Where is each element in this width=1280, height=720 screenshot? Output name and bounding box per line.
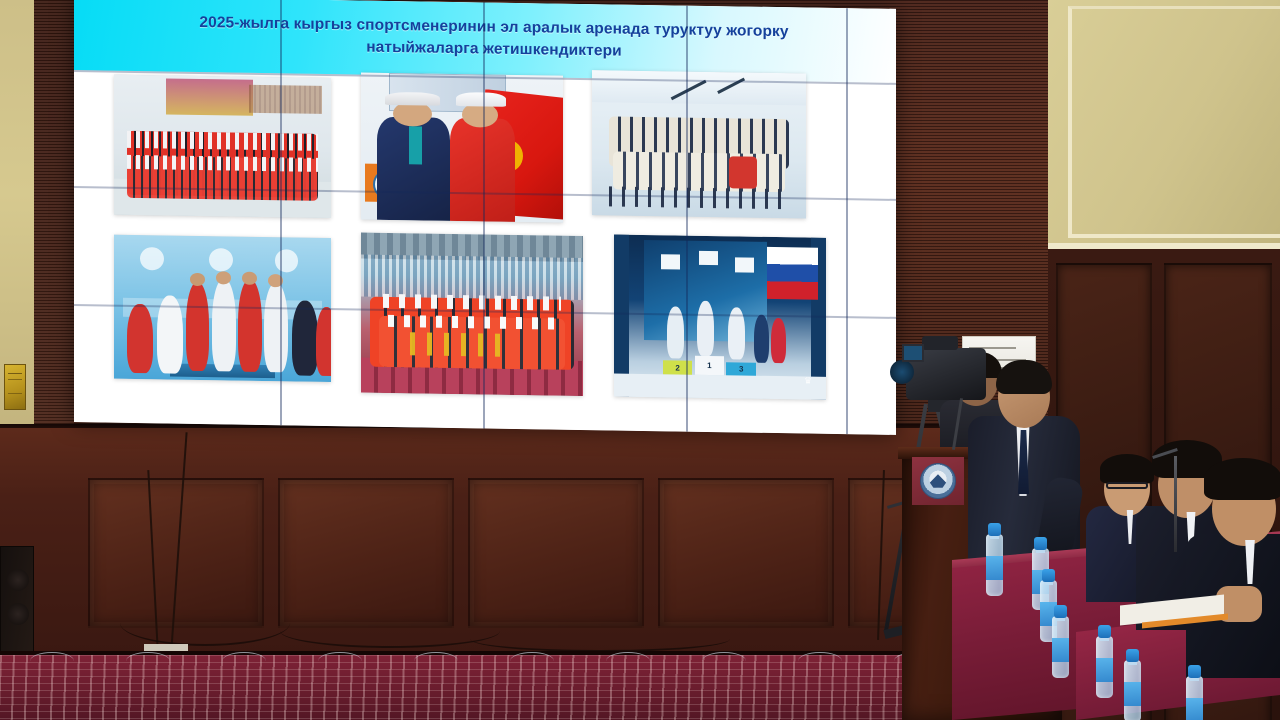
- delegate-foreground: [1186, 458, 1280, 678]
- cable: [120, 600, 290, 646]
- slide-photo-victory-podium: 2 1 3 ♛: [614, 234, 826, 399]
- cable: [280, 614, 500, 648]
- podium-block-2: 2: [663, 360, 693, 375]
- carpet: [0, 655, 1060, 720]
- wainscot-panel: [278, 478, 454, 628]
- videowall-seam: [846, 8, 848, 434]
- water-bottle: [1052, 616, 1069, 678]
- left-wood-column: [34, 0, 74, 470]
- podium-block-3: 3: [726, 363, 756, 376]
- wainscot-panel: [468, 478, 644, 628]
- slide-photo-stadium-delegation: [361, 233, 583, 396]
- water-bottle: [1124, 660, 1141, 720]
- crest-watermark: ♛: [798, 375, 817, 395]
- conference-hall-scene: 2025-жылга кыргыз спортсменеринин эл ара…: [0, 0, 1280, 720]
- video-wall-display[interactable]: 2025-жылга кыргыз спортсменеринин эл ара…: [74, 0, 896, 435]
- kyrgyz-state-emblem-icon: [912, 457, 964, 505]
- videowall-seam: [686, 6, 688, 432]
- water-bottle: [1096, 636, 1113, 698]
- slide-photo-team-red: [114, 75, 331, 218]
- videowall-seam: [280, 0, 282, 425]
- left-wall: [0, 0, 34, 432]
- table-microphone: [1174, 456, 1177, 552]
- wainscot-panel: [658, 478, 834, 628]
- presentation-slide: 2025-жылга кыргыз спортсменеринин эл ара…: [74, 0, 896, 435]
- wall-molding: [1068, 6, 1280, 238]
- wall-plaque: [4, 364, 26, 410]
- floor-loudspeaker: [0, 546, 34, 664]
- podium-block-1: 1: [695, 356, 725, 376]
- slide-photo-flag-handover: [361, 73, 563, 223]
- cable: [470, 626, 730, 652]
- water-bottle: [1186, 676, 1203, 720]
- videowall-seam: [483, 2, 485, 428]
- water-bottle: [986, 534, 1003, 596]
